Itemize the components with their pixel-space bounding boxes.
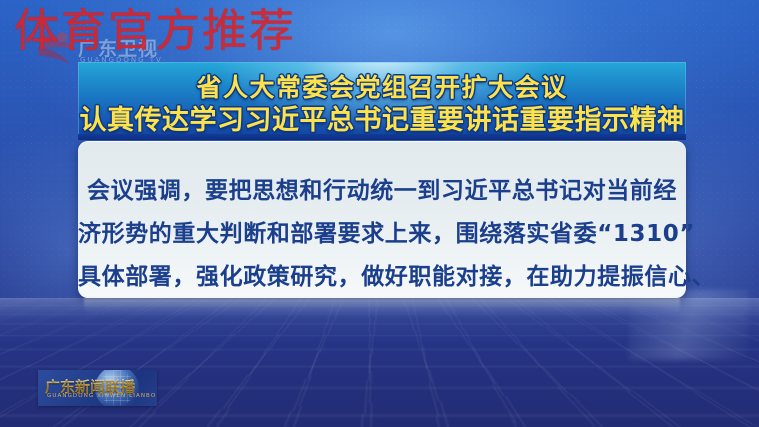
body-text-line: 具体部署，强化政策研究，做好职能对接，在助力提振信心、 [78,257,686,291]
program-logo-subtitle: GUANGDONG XINWEN LIANBO [47,393,156,399]
broadcast-screen: 广东卫视 GUANGDONG TV 体育官方推荐 省人大常委会党组召开扩大会议 … [0,0,759,427]
body-text-line: 济形势的重大判断和部署要求上来，围绕落实省委“1310” [78,214,686,248]
headline-line-2: 认真传达学习习近平总书记重要讲话重要指示精神 [78,98,686,137]
background-perspective-floor [0,298,759,427]
headline-banner: 省人大常委会党组召开扩大会议 认真传达学习习近平总书记重要讲话重要指示精神 [78,62,686,140]
headline-banner-bottom-bar [78,134,686,140]
body-text-line: 会议强调，要把思想和行动统一到习近平总书记对当前经 [78,171,686,205]
overlay-ad-text: 体育官方推荐 [14,4,296,58]
program-logo: 广东新闻联播 GUANGDONG XINWEN LIANBO [38,370,157,406]
body-text-panel: 会议强调，要把思想和行动统一到习近平总书记对当前经 济形势的重大判断和部署要求上… [78,141,686,298]
